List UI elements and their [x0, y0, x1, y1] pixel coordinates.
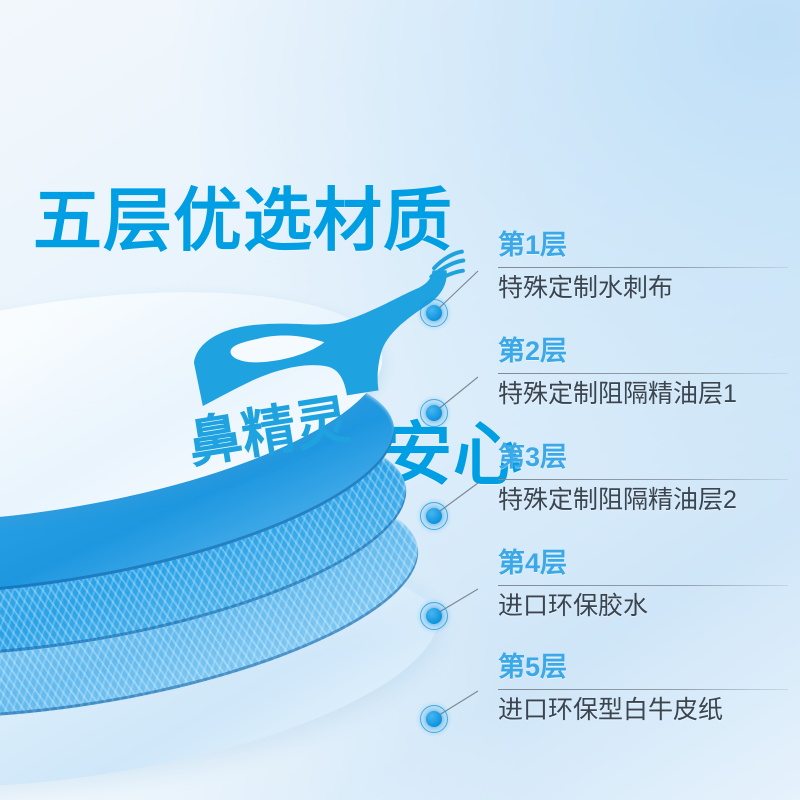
callout-rule-4 — [498, 585, 788, 586]
callout-label-2[interactable]: 第2层 特殊定制阻隔精油层1 — [498, 336, 788, 409]
dot-core-icon — [426, 305, 442, 321]
callout-label-3[interactable]: 第3层 特殊定制阻隔精油层2 — [498, 442, 788, 515]
dot-core-icon — [426, 508, 442, 524]
layer-desc-5: 进口环保型白牛皮纸 — [498, 696, 788, 725]
dot-core-icon — [426, 405, 442, 421]
callout-label-5[interactable]: 第5层 进口环保型白牛皮纸 — [498, 652, 788, 725]
layer-marker-dot-1[interactable] — [416, 295, 452, 331]
callout-rule-5 — [498, 689, 788, 690]
layer-desc-1: 特殊定制水刺布 — [498, 274, 788, 303]
layer-title-1: 第1层 — [498, 230, 788, 260]
layer-marker-dot-2[interactable] — [416, 395, 452, 431]
callout-label-4[interactable]: 第4层 进口环保胶水 — [498, 548, 788, 621]
layer-desc-3: 特殊定制阻隔精油层2 — [498, 486, 788, 515]
layer-title-3: 第3层 — [498, 442, 788, 472]
layer-marker-dot-4[interactable] — [416, 598, 452, 634]
callout-rule-1 — [498, 267, 788, 268]
layer-marker-dot-3[interactable] — [416, 498, 452, 534]
layer-title-4: 第4层 — [498, 548, 788, 578]
layer-desc-2: 特殊定制阻隔精油层1 — [498, 380, 788, 409]
callout-group: 第1层 特殊定制水刺布 第2层 特殊定制阻隔精油层1 第3层 特殊定制阻隔精油层… — [0, 0, 800, 800]
poster-canvas: 五层优选材质 层层守护更安心 鼻精灵 — [0, 0, 800, 800]
layer-title-2: 第2层 — [498, 336, 788, 366]
callout-rule-3 — [498, 479, 788, 480]
layer-desc-4: 进口环保胶水 — [498, 592, 788, 621]
dot-core-icon — [426, 711, 442, 727]
layer-marker-dot-5[interactable] — [416, 701, 452, 737]
layer-title-5: 第5层 — [498, 652, 788, 682]
callout-rule-2 — [498, 373, 788, 374]
dot-core-icon — [426, 608, 442, 624]
callout-label-1[interactable]: 第1层 特殊定制水刺布 — [498, 230, 788, 303]
